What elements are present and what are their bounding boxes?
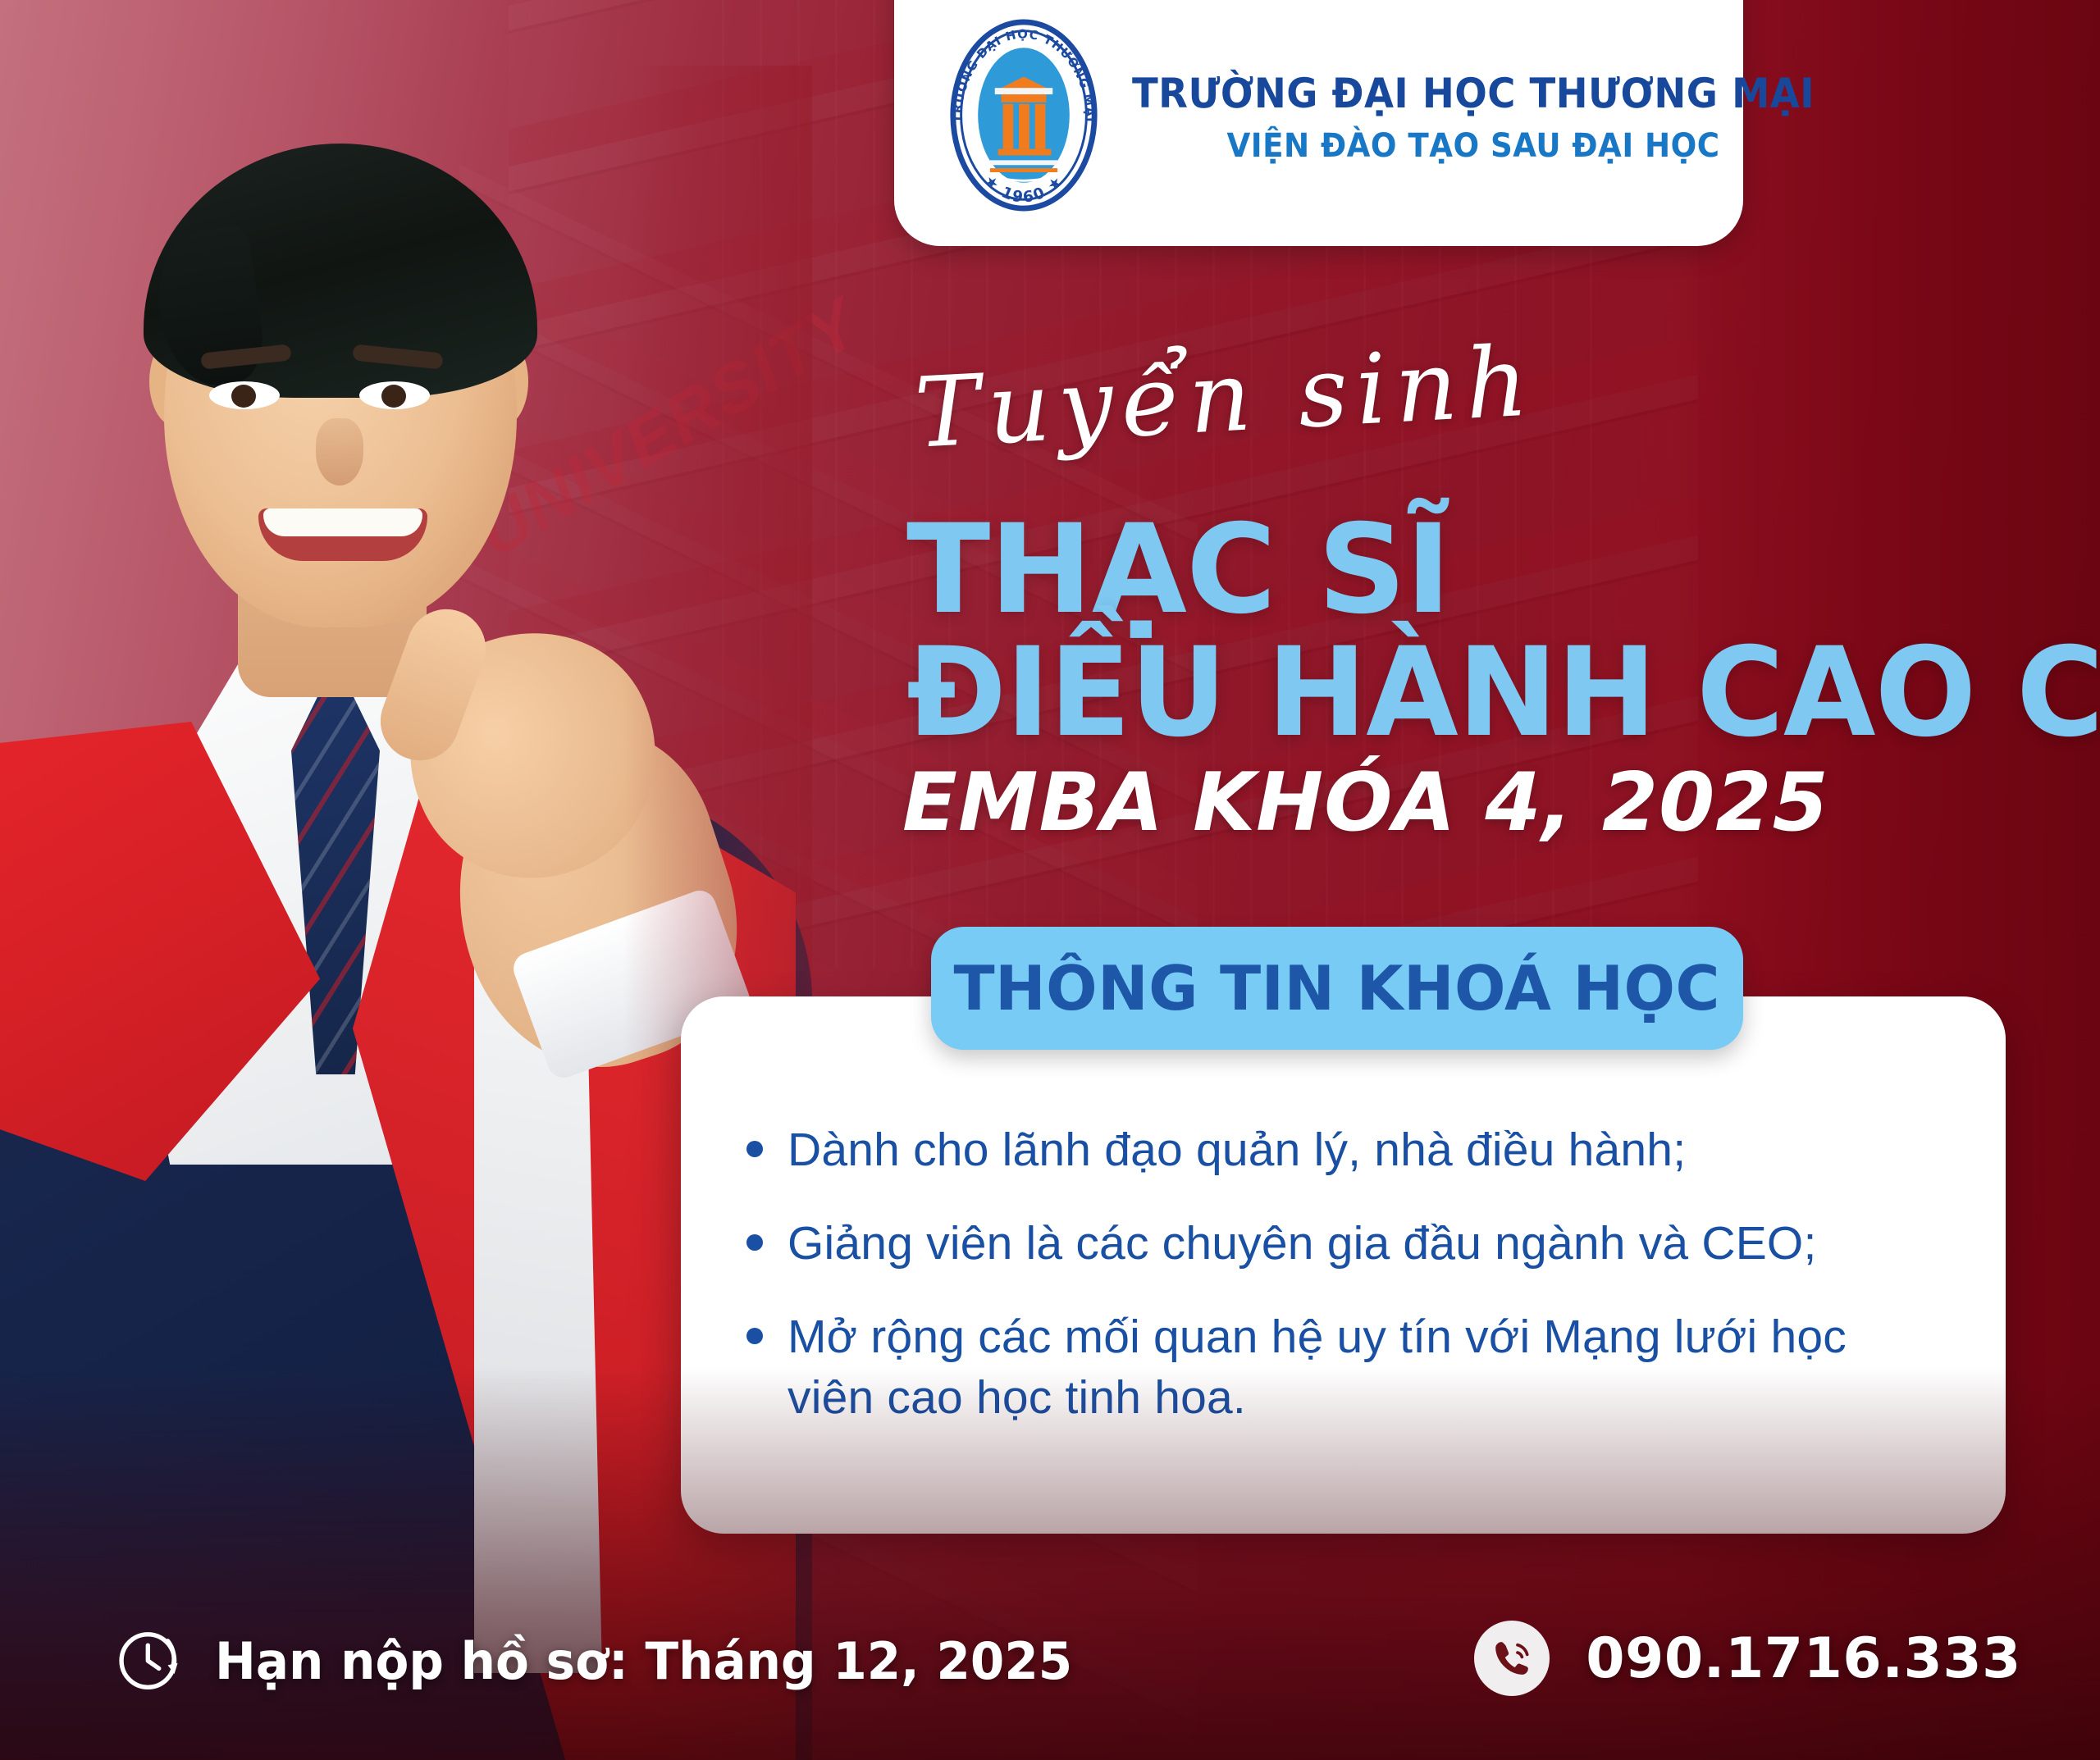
portrait-eye-left	[209, 381, 280, 409]
bullet-dot-icon	[746, 1141, 763, 1157]
phone-number[interactable]: 090.1716.333	[1586, 1626, 2021, 1691]
university-seal-icon: TRƯỜNG ĐẠI HỌC THƯƠNG MẠI ★ 1960 ★	[943, 19, 1104, 212]
headline-line-2: ĐIỀU HÀNH CAO CẤP	[906, 632, 2100, 755]
logo-university-name: TRƯỜNG ĐẠI HỌC THƯƠNG MẠI	[1132, 70, 1815, 117]
headline-line-1: THẠC SĨ	[906, 508, 1450, 632]
bullet-dot-icon	[746, 1328, 763, 1344]
contact-phone-block[interactable]: 090.1716.333	[1474, 1621, 2021, 1696]
bullet-dot-icon	[746, 1234, 763, 1251]
headline-subtitle: EMBA KHÓA 4, 2025	[902, 763, 1829, 843]
portrait-eye-right	[359, 381, 430, 409]
portrait-mouth	[258, 508, 427, 561]
logo-text-block: TRƯỜNG ĐẠI HỌC THƯƠNG MẠI VIỆN ĐÀO TẠO S…	[1132, 65, 1866, 165]
course-info-badge: THÔNG TIN KHOÁ HỌC	[931, 927, 1743, 1050]
logo-institute-name: VIỆN ĐÀO TẠO SAU ĐẠI HỌC	[1132, 127, 1815, 165]
deadline-block: Hạn nộp hồ sơ: Tháng 12, 2025	[115, 1625, 1108, 1696]
list-item-text: Giảng viên là các chuyên gia đầu ngành v…	[787, 1213, 1817, 1274]
background-bottom-vignette	[0, 1366, 2100, 1760]
portrait-nose	[316, 418, 363, 486]
phone-call-icon	[1474, 1621, 1550, 1696]
clock-history-icon	[115, 1625, 185, 1696]
poster-root: EMBA UNIVERSITY	[0, 0, 2100, 1760]
list-item: Giảng viên là các chuyên gia đầu ngành v…	[746, 1213, 1927, 1274]
university-logo-badge: TRƯỜNG ĐẠI HỌC THƯƠNG MẠI ★ 1960 ★ TRƯỜN…	[894, 0, 1743, 246]
list-item-text: Dành cho lãnh đạo quản lý, nhà điều hành…	[787, 1119, 1686, 1180]
list-item: Dành cho lãnh đạo quản lý, nhà điều hành…	[746, 1119, 1927, 1180]
deadline-label: Hạn nộp hồ sơ: Tháng 12, 2025	[215, 1631, 1072, 1691]
course-info-badge-label: THÔNG TIN KHOÁ HỌC	[954, 952, 1720, 1024]
